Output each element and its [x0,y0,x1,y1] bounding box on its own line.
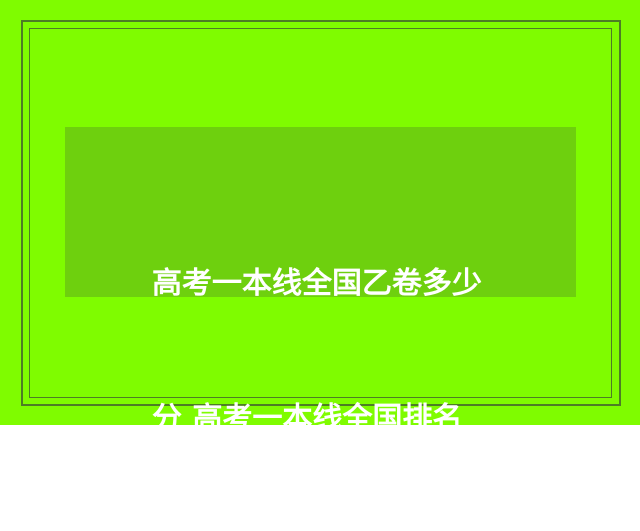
page-title: 高考一本线全国乙卷多少 分 高考一本线全国排名 [152,171,552,531]
thumbnail-canvas: 高考一本线全国乙卷多少 分 高考一本线全国排名 [0,0,640,425]
headline-line-1: 高考一本线全国乙卷多少 [152,261,552,306]
headline-line-2: 分 高考一本线全国排名 [152,396,552,441]
headline-panel: 高考一本线全国乙卷多少 分 高考一本线全国排名 [65,127,576,297]
